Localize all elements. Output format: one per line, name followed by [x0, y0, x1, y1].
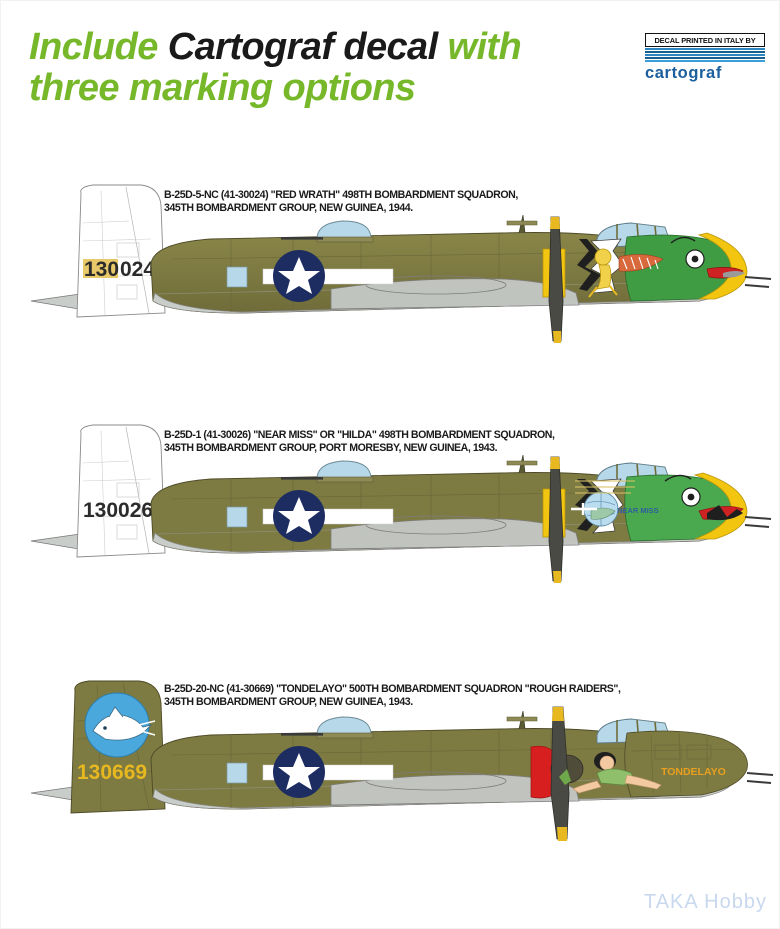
decal-sheet-page: Include Cartograf decal with three marki…	[0, 0, 780, 929]
tail-number-1-prefix: 130	[84, 258, 119, 281]
dorsal-turret-3	[281, 717, 373, 738]
nose-art-2-shark-mouth: NEAR MISS	[571, 473, 771, 541]
headline-brand: Cartograf decal	[168, 26, 438, 68]
aircraft-profile-option-2: 130026	[31, 421, 749, 611]
aircraft-profile-option-3: 130669	[31, 673, 749, 863]
headline-part-3: with	[438, 26, 522, 68]
cartograf-wordmark: cartograf	[645, 63, 765, 82]
nose-art-1-shark-mouth	[577, 233, 771, 301]
tail-fin-2: 130026	[77, 425, 165, 557]
page-headline: Include Cartograf decal with three marki…	[29, 27, 629, 109]
headline-line-2: three marking options	[29, 68, 629, 109]
dorsal-turret-1	[281, 221, 373, 242]
cartograf-stripes-icon	[645, 48, 765, 62]
tail-fin-3: 130669	[71, 681, 165, 813]
tail-fin-1: 130 024	[77, 185, 165, 317]
aircraft-profile-option-1: 130 024	[31, 181, 749, 371]
dorsal-turret-2	[281, 461, 373, 482]
cartograf-logo: DECAL PRINTED IN ITALY BY cartograf	[645, 33, 765, 82]
taka-hobby-watermark: TAKA Hobby	[644, 891, 767, 914]
tail-number-1-suffix: 024	[120, 258, 155, 281]
decal-printed-label: DECAL PRINTED IN ITALY BY	[645, 33, 765, 47]
tail-number-3: 130669	[77, 761, 147, 784]
tail-number-2: 130026	[83, 499, 153, 522]
headline-part-1: Include	[29, 26, 168, 68]
svg-text:NEAR MISS: NEAR MISS	[617, 506, 659, 515]
nose-art-title-3: TONDELAYO	[661, 766, 726, 778]
